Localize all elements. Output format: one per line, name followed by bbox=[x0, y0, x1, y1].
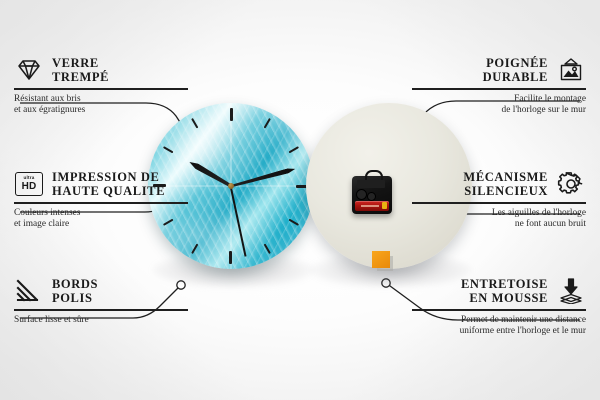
hour-marker-12 bbox=[230, 103, 232, 186]
feature-description: Surface lisse et sûre bbox=[14, 315, 188, 327]
battery bbox=[355, 201, 389, 211]
ultra-hd-icon: ultra HD bbox=[14, 170, 44, 198]
feature-header: VERRE TREMPÉ bbox=[14, 56, 188, 84]
feature-header: ENTRETOISE EN MOUSSE bbox=[412, 277, 586, 305]
feature-title: POIGNÉE DURABLE bbox=[483, 56, 548, 84]
feature-mecanisme-silencieux: MÉCANISME SILENCIEUX Les aiguilles de l'… bbox=[412, 170, 586, 231]
hour-marker-3 bbox=[231, 185, 314, 187]
feature-divider bbox=[412, 88, 586, 90]
quartz-movement bbox=[352, 176, 392, 214]
feature-header: BORDS POLIS bbox=[14, 277, 188, 305]
feature-header: ultra HD IMPRESSION DE HAUTE QUALITÉ bbox=[14, 170, 188, 198]
feature-description: Facilite le montage de l'horloge sur le … bbox=[412, 94, 586, 117]
movement-plate bbox=[357, 180, 385, 188]
movement-dial-large bbox=[356, 189, 367, 200]
foam-spacer-arrow-icon bbox=[556, 277, 586, 305]
feature-description: Résistant aux bris et aux égratignures bbox=[14, 94, 188, 117]
diagonal-lines-icon bbox=[14, 277, 44, 305]
feature-description: Les aiguilles de l'horloge ne font aucun… bbox=[412, 208, 586, 231]
feature-impression-qualite: ultra HD IMPRESSION DE HAUTE QUALITÉ Cou… bbox=[14, 170, 188, 231]
feature-entretoise-mousse: ENTRETOISE EN MOUSSE Permet de maintenir… bbox=[412, 277, 586, 338]
feature-divider bbox=[14, 309, 188, 311]
feature-header: MÉCANISME SILENCIEUX bbox=[412, 170, 586, 198]
feature-divider bbox=[412, 202, 586, 204]
feature-divider bbox=[14, 88, 188, 90]
diamond-icon bbox=[14, 56, 44, 84]
feature-title: MÉCANISME SILENCIEUX bbox=[463, 170, 548, 198]
gear-icon bbox=[556, 170, 586, 198]
feature-bords-polis: BORDS POLIS Surface lisse et sûre bbox=[14, 277, 188, 326]
hanging-picture-frame-icon bbox=[556, 56, 586, 84]
hand-center-cap bbox=[228, 183, 234, 189]
feature-description: Couleurs intenses et image claire bbox=[14, 208, 188, 231]
feature-title: VERRE TREMPÉ bbox=[52, 56, 109, 84]
battery-band bbox=[361, 205, 379, 207]
feature-verre-trempe: VERRE TREMPÉ Résistant aux bris et aux é… bbox=[14, 56, 188, 117]
feature-poignee-durable: POIGNÉE DURABLE Facilite le montage de l… bbox=[412, 56, 586, 117]
feature-title: ENTRETOISE EN MOUSSE bbox=[461, 277, 548, 305]
ultra-hd-icon-bottom-text: HD bbox=[22, 182, 37, 192]
feature-divider bbox=[412, 309, 586, 311]
feature-title: IMPRESSION DE HAUTE QUALITÉ bbox=[52, 170, 165, 198]
feature-title: BORDS POLIS bbox=[52, 277, 98, 305]
feature-divider bbox=[14, 202, 188, 204]
infographic-canvas: VERRE TREMPÉ Résistant aux bris et aux é… bbox=[0, 0, 600, 400]
feature-header: POIGNÉE DURABLE bbox=[412, 56, 586, 84]
movement-dial-small bbox=[367, 192, 376, 201]
battery-terminal bbox=[382, 202, 387, 209]
foam-spacer bbox=[372, 251, 390, 268]
feature-description: Permet de maintenir une distance uniform… bbox=[412, 315, 586, 338]
